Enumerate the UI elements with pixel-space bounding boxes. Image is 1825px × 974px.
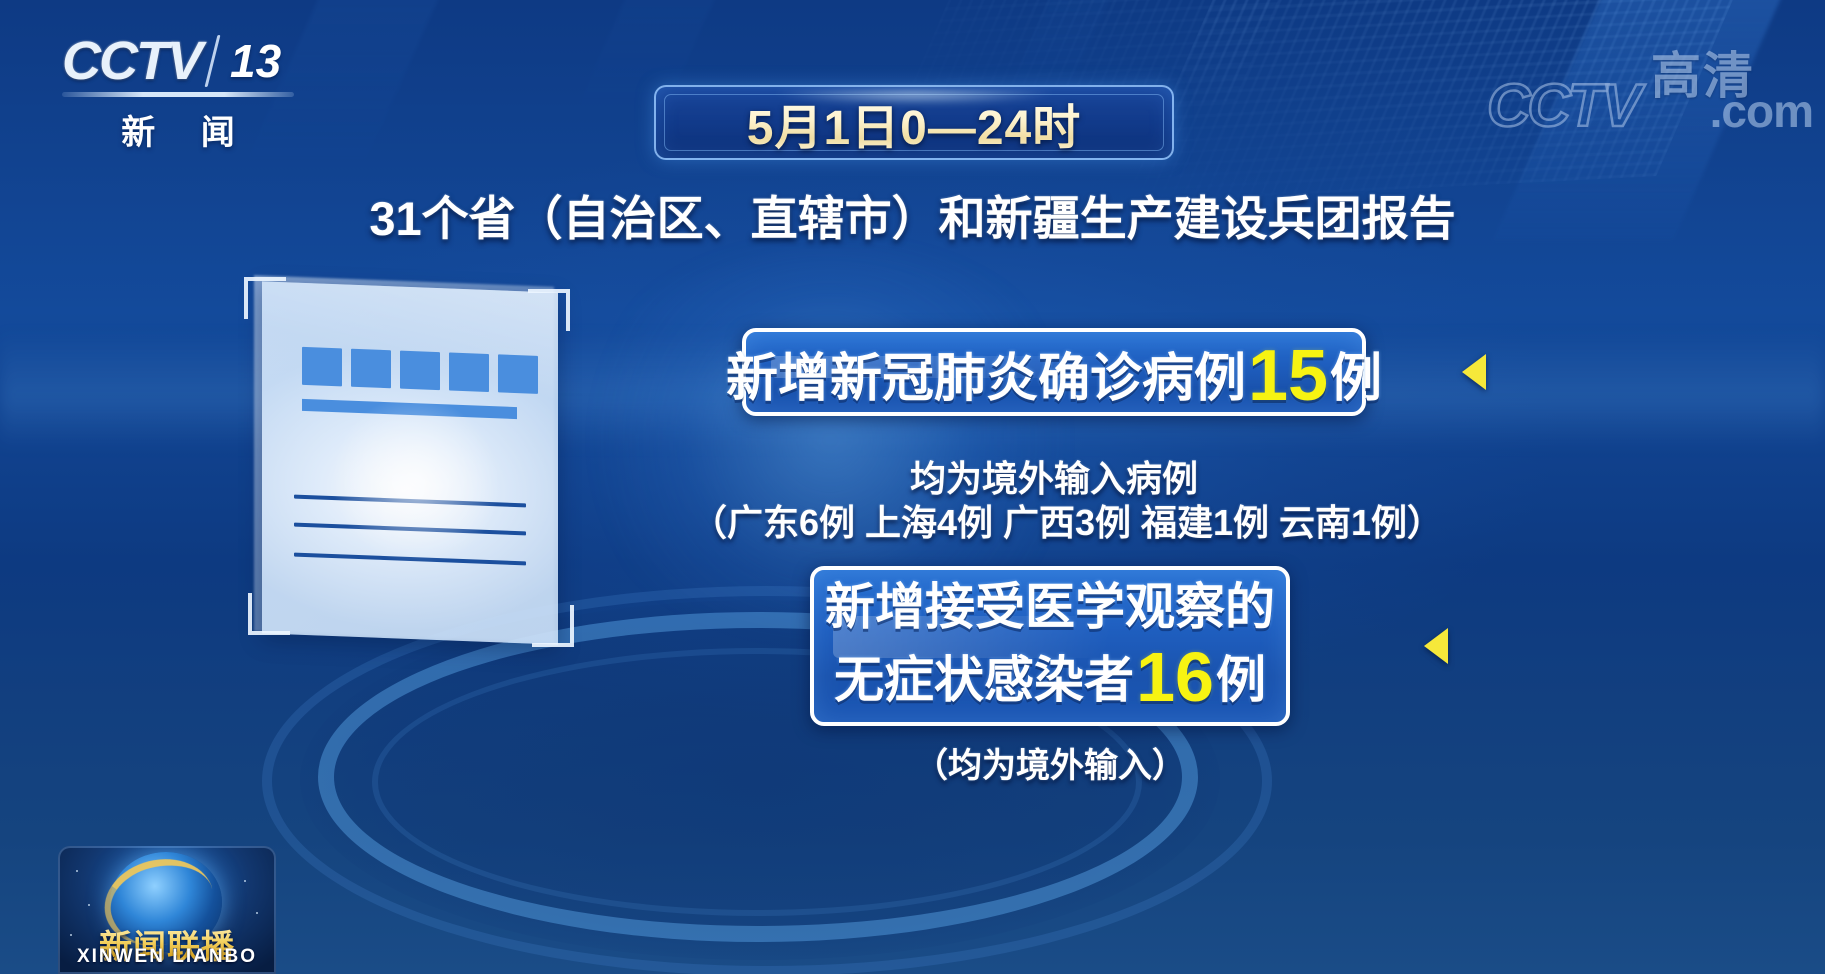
logo-underline bbox=[62, 92, 294, 97]
focus-bracket-top-right-icon bbox=[528, 289, 570, 331]
focus-bracket-bottom-left-icon bbox=[248, 593, 290, 635]
date-banner: 5月1日0—24时 bbox=[654, 85, 1174, 160]
document-page bbox=[262, 281, 558, 644]
note-asym-imported: （均为境外输入） bbox=[810, 738, 1290, 787]
document-illustration bbox=[240, 275, 570, 645]
stat-confirmed-unit: 例 bbox=[1330, 352, 1382, 407]
watermark-com-text: .com bbox=[1710, 84, 1813, 138]
broadcast-graphic: CCTV 13 新 闻 高清 CCTV .com 5月1日0—24时 31个省（… bbox=[0, 0, 1825, 974]
cctv-com-watermark: 高清 CCTV .com bbox=[1487, 36, 1817, 144]
date-banner-text: 5月1日0—24时 bbox=[747, 88, 1081, 158]
pointer-triangle-right-icon bbox=[1462, 354, 1486, 390]
focus-bracket-bottom-right-icon bbox=[532, 605, 574, 647]
channel-logo: CCTV 13 新 闻 bbox=[62, 34, 302, 154]
document-block bbox=[400, 351, 440, 391]
document-rule-bar bbox=[302, 399, 517, 419]
stat-confirmed-line: 新增新冠肺炎确诊病例 15 例 bbox=[726, 334, 1382, 410]
stat-confirmed-value: 15 bbox=[1248, 338, 1328, 414]
page-title: 31个省（自治区、直辖市）和新疆生产建设兵团报告 bbox=[0, 180, 1825, 249]
channel-number: 13 bbox=[224, 38, 281, 84]
document-block bbox=[498, 354, 538, 394]
logo-divider-slash bbox=[205, 35, 221, 87]
stat-asym-value: 16 bbox=[1136, 640, 1214, 714]
stat-asym-line-1: 新增接受医学观察的 bbox=[825, 581, 1275, 634]
watermark-cctv-text: CCTV bbox=[1487, 71, 1638, 140]
document-block bbox=[449, 352, 489, 392]
document-block bbox=[351, 349, 391, 389]
star-dot bbox=[76, 870, 78, 872]
document-header-blocks bbox=[302, 347, 538, 394]
stat-asym-line-2: 无症状感染者 16 例 bbox=[834, 636, 1266, 710]
pointer-triangle-right-icon bbox=[1424, 628, 1448, 664]
stat-asym-label-line2: 无症状感染者 bbox=[834, 654, 1134, 707]
stat-confirmed-label: 新增新冠肺炎确诊病例 bbox=[726, 352, 1246, 407]
document-block bbox=[302, 347, 342, 387]
star-dot bbox=[256, 912, 258, 914]
stat-asym-unit: 例 bbox=[1216, 654, 1266, 707]
stat-card-confirmed: 新增新冠肺炎确诊病例 15 例 bbox=[742, 328, 1366, 416]
document-text-line bbox=[294, 523, 526, 536]
star-dot bbox=[244, 880, 246, 882]
focus-bracket-top-left-icon bbox=[244, 277, 286, 319]
stat-asym-label-line1: 新增接受医学观察的 bbox=[825, 581, 1275, 634]
star-dot bbox=[88, 904, 90, 906]
program-title-en: XINWEN LIANBO bbox=[58, 946, 276, 968]
channel-name-cn: 新 闻 bbox=[62, 105, 294, 154]
stat-card-asymptomatic: 新增接受医学观察的 无症状感染者 16 例 bbox=[810, 566, 1290, 726]
note-province-breakdown: （广东6例 上海4例 广西3例 福建1例 云南1例） bbox=[672, 494, 1462, 546]
program-badge: 新闻联播 XINWEN LIANBO bbox=[58, 846, 276, 974]
document-text-line bbox=[294, 495, 526, 508]
cctv-wordmark: CCTV bbox=[62, 34, 201, 88]
document-text-line bbox=[294, 553, 526, 566]
